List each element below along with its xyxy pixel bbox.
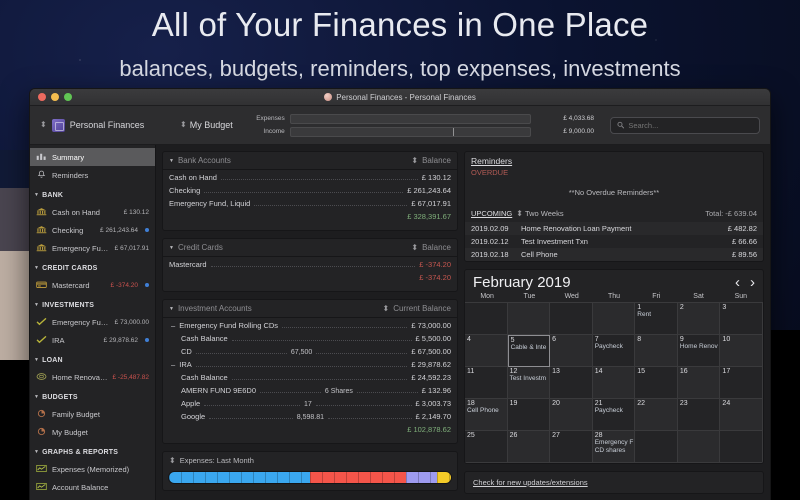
budget-bar-row: Expenses £ 4,033.68 <box>243 114 594 124</box>
sidebar-group-loan[interactable]: ▼LOAN <box>30 352 155 368</box>
table-row[interactable]: Emergency Fund, Liquid£ 67,017.91 <box>169 199 451 212</box>
table-row[interactable]: Cash on Hand£ 130.12 <box>169 173 451 186</box>
calendar-day-number: 1 <box>637 304 675 311</box>
sidebar-item-amount: £ 29,878.62 <box>104 337 138 344</box>
sidebar-item-my-budget[interactable]: My Budget <box>30 423 155 441</box>
sidebar-item-ira[interactable]: IRA£ 29,878.62 <box>30 331 155 349</box>
row-leader <box>196 366 408 367</box>
disclosure-triangle-icon[interactable]: ▼ <box>34 265 39 271</box>
sidebar-item-label: My Budget <box>52 428 149 437</box>
calendar-weekday: Sun <box>720 293 762 300</box>
calendar-day-number: 16 <box>680 368 718 375</box>
reminder-row[interactable]: 2019.02.12Test Investment Txn£ 66.66 <box>465 235 763 248</box>
calendar-day-cell[interactable]: 8 <box>635 335 678 367</box>
sidebar-group-label: BUDGETS <box>42 394 78 401</box>
disclosure-triangle-icon[interactable]: ▼ <box>34 192 39 198</box>
sidebar-group-label: INVESTMENTS <box>42 302 94 309</box>
calendar-day-cell[interactable]: 16 <box>678 367 721 399</box>
row-leader <box>221 179 418 180</box>
disclosure-triangle-icon[interactable]: ▼ <box>34 302 39 308</box>
sidebar-item-label: Expenses (Memorized) <box>52 465 149 474</box>
reminders-total-label: Total: <box>705 209 723 218</box>
calendar-event[interactable]: Emergency F <box>595 439 633 447</box>
reminders-range-value: Two Weeks <box>525 209 564 218</box>
expense-segment[interactable] <box>437 472 451 483</box>
calendar-day-number: 18 <box>467 400 505 407</box>
disclosure-triangle-icon[interactable]: ▼ <box>169 245 174 251</box>
calendar-day-number: 23 <box>680 400 718 407</box>
bank-accounts-column: Balance <box>422 156 451 165</box>
sidebar-item-mastercard[interactable]: Mastercard£ -374.20 <box>30 276 155 294</box>
row-leader <box>204 192 403 193</box>
row-value: £ 132.96 <box>422 386 451 395</box>
credit-cards-rows: Mastercard£ -374.20£ -374.20 <box>163 257 457 291</box>
sidebar-item-label: Reminders <box>52 171 149 180</box>
sidebar-group-label: LOAN <box>42 357 63 364</box>
sidebar-item-asset-allocation[interactable]: Asset Allocation <box>30 496 155 500</box>
file-selector[interactable]: ⬍ Personal Finances <box>40 119 170 132</box>
window-title: Personal Finances - Personal Finances <box>30 93 770 102</box>
investment-accounts-column: Current Balance <box>393 304 451 313</box>
sidebar-item-checking[interactable]: Checking£ 261,243.64 <box>30 221 155 239</box>
calendar-day-cell[interactable]: 15 <box>635 367 678 399</box>
calendar-event[interactable]: Paycheck <box>595 343 633 351</box>
reminder-row[interactable]: 2019.02.18Cell Phone£ 89.56 <box>465 248 763 261</box>
table-row[interactable]: Cash Balance£ 5,500.00 <box>169 334 451 347</box>
reminders-upcoming-label: UPCOMING <box>471 209 512 218</box>
file-name-label: Personal Finances <box>70 120 145 130</box>
expenses-breakdown-bar[interactable] <box>168 471 452 484</box>
table-row[interactable]: – Emergency Fund Rolling CDs£ 73,000.00 <box>169 321 451 334</box>
sidebar-item-amount: £ 130.12 <box>124 209 149 216</box>
expense-segment[interactable] <box>310 472 406 483</box>
calendar-day-cell[interactable]: 17 <box>720 367 763 399</box>
graph-icon <box>36 482 47 493</box>
bank-accounts-header[interactable]: ▼ Bank Accounts ⬍ Balance <box>163 152 457 170</box>
bar-label: Expenses <box>243 115 285 122</box>
calendar-day-number: 19 <box>510 400 548 407</box>
credit-cards-panel: ▼ Credit Cards ⬍ Balance Mastercard£ -37… <box>162 238 458 292</box>
row-value: £ 3,003.73 <box>416 399 451 408</box>
row-value: £ 5,500.00 <box>416 334 451 343</box>
reminder-date: 2019.02.12 <box>471 237 521 246</box>
reminder-title: Cell Phone <box>521 250 732 259</box>
row-label: Google <box>169 412 205 421</box>
sidebar-groups: ▼BANKCash on Hand£ 130.12Checking£ 261,2… <box>30 187 155 500</box>
sidebar-item-amount: £ 261,243.64 <box>100 227 138 234</box>
bar-label: Income <box>243 128 285 135</box>
calendar-weekday: Fri <box>635 293 677 300</box>
calendar-day-cell[interactable]: 3 <box>720 303 763 335</box>
disclosure-triangle-icon[interactable]: ▼ <box>34 449 39 455</box>
summary-icon <box>36 152 47 163</box>
calendar-day-number: 15 <box>637 368 675 375</box>
search-input[interactable] <box>628 121 753 130</box>
sidebar-group-label: GRAPHS & REPORTS <box>42 449 118 456</box>
calendar-day-cell[interactable]: 10 <box>720 335 763 367</box>
disclosure-triangle-icon[interactable]: ▼ <box>169 306 174 312</box>
calendar-day-number: 7 <box>595 336 633 343</box>
row-value: £ 73,000.00 <box>411 321 451 330</box>
reminder-title: Test Investment Txn <box>521 237 732 246</box>
calendar-day-number: 12 <box>510 368 548 375</box>
reminders-panel: Reminders OVERDUE **No Overdue Reminders… <box>464 151 764 262</box>
disclosure-triangle-icon[interactable]: ▼ <box>34 394 39 400</box>
expense-segment[interactable] <box>169 472 310 483</box>
window-titlebar: Personal Finances - Personal Finances <box>30 89 770 106</box>
row-leader <box>254 205 407 206</box>
expenses-title: Expenses: Last Month <box>180 456 254 465</box>
document-icon <box>52 119 65 132</box>
reminders-range-selector[interactable]: ⬍ Two Weeks <box>516 209 563 218</box>
investment-accounts-rows: – Emergency Fund Rolling CDs£ 73,000.00C… <box>163 318 457 443</box>
row-leader <box>211 266 416 267</box>
calendar-day-number: 9 <box>680 336 718 343</box>
right-column: Reminders OVERDUE **No Overdue Reminders… <box>464 151 764 494</box>
calendar-day-number: 24 <box>722 400 760 407</box>
row-quantity: 6 Shares <box>325 388 353 395</box>
check-updates-link[interactable]: Check for new updates/extensions <box>473 478 588 487</box>
status-dot <box>145 228 149 232</box>
row-value: £ 130.12 <box>422 173 451 182</box>
table-row[interactable]: Cash Balance£ 24,592.23 <box>169 373 451 386</box>
panel-total: £ -374.20 <box>169 273 451 286</box>
row-label: Apple <box>169 399 200 408</box>
row-leader <box>196 353 287 354</box>
reminder-title: Home Renovation Loan Payment <box>521 224 728 233</box>
calendar-day-cell[interactable]: 19 <box>508 399 551 431</box>
stepper-icon: ⬍ <box>40 121 47 129</box>
calendar-day-cell[interactable] <box>550 303 593 335</box>
expenses-bar-track <box>290 114 531 124</box>
reminders-total: Total: -£ 639.04 <box>705 209 757 218</box>
row-leader <box>232 379 408 380</box>
sidebar-item-amount: £ 73,000.00 <box>115 319 149 326</box>
pie-icon <box>36 409 47 420</box>
table-row[interactable]: Mastercard£ -374.20 <box>169 260 451 273</box>
app-icon <box>324 93 332 101</box>
calendar-day-cell[interactable]: 4 <box>465 335 508 367</box>
row-value: £ 67,017.91 <box>411 199 451 208</box>
income-bar-marker <box>453 128 454 136</box>
row-group-marker: – <box>169 321 177 330</box>
calendar-day-number: 25 <box>467 432 505 439</box>
calendar-day-cell[interactable] <box>720 431 763 463</box>
bell-icon <box>36 170 47 181</box>
sidebar-group-budgets[interactable]: ▼BUDGETS <box>30 389 155 405</box>
main-content: ▼ Bank Accounts ⬍ Balance Cash on Hand£ … <box>156 145 770 500</box>
row-label: Cash on Hand <box>169 173 217 182</box>
sidebar-item-label: Mastercard <box>52 281 106 290</box>
calendar-day-cell[interactable]: 14 <box>593 367 636 399</box>
bank-icon <box>36 207 47 218</box>
calendar-day-cell[interactable]: 23 <box>678 399 721 431</box>
status-dot <box>145 283 149 287</box>
sidebar-item-label: Cash on Hand <box>52 208 119 217</box>
calendar-day-number: 4 <box>467 336 505 343</box>
row-label: Emergency Fund Rolling CDs <box>177 321 278 330</box>
calendar-day-cell[interactable] <box>593 303 636 335</box>
reminder-amount: £ 66.66 <box>732 237 757 246</box>
calendar-day-number: 21 <box>595 400 633 407</box>
calendar-header: February 2019 ‹ › <box>465 270 763 293</box>
table-row[interactable]: Checking£ 261,243.64 <box>169 186 451 199</box>
table-row[interactable]: CD67,500£ 67,500.00 <box>169 347 451 360</box>
promo-headline: All of Your Finances in One Place <box>0 6 800 44</box>
expense-segment[interactable] <box>406 472 437 483</box>
calendar-title: February 2019 <box>473 274 571 291</box>
row-leader <box>209 418 293 419</box>
expenses-panel: ⬍ Expenses: Last Month <box>162 451 458 491</box>
sidebar-group-bank[interactable]: ▼BANK <box>30 187 155 203</box>
reminder-date: 2019.02.09 <box>471 224 521 233</box>
row-quantity: 67,500 <box>291 349 312 356</box>
calendar-day-cell[interactable] <box>465 303 508 335</box>
row-value: £ 67,500.00 <box>411 347 451 356</box>
sidebar-item-amount: £ 67,017.91 <box>115 245 149 252</box>
status-dot <box>145 338 149 342</box>
panel-total-value: £ -374.20 <box>419 273 451 282</box>
updates-panel: Check for new updates/extensions <box>464 471 764 494</box>
sidebar-item-label: Emergency Fun... <box>52 244 110 253</box>
row-label: IRA <box>177 360 192 369</box>
row-group-marker: – <box>169 360 177 369</box>
calendar-next-button[interactable]: › <box>750 274 755 291</box>
row-leader <box>316 405 412 406</box>
calendar-day-cell[interactable]: 26 <box>508 431 551 463</box>
calendar-panel: February 2019 ‹ › MonTueWedThuFriSatSun … <box>464 269 764 464</box>
calendar-day-cell[interactable] <box>678 431 721 463</box>
row-leader <box>316 353 407 354</box>
sidebar: SummaryReminders ▼BANKCash on Hand£ 130.… <box>30 145 156 500</box>
expenses-header[interactable]: ⬍ Expenses: Last Month <box>163 452 457 469</box>
updates-row: Check for new updates/extensions <box>465 472 763 493</box>
investment-accounts-panel: ▼ Investment Accounts ⬍ Current Balance … <box>162 299 458 444</box>
sidebar-item-emergency-fun-[interactable]: Emergency Fun...£ 67,017.91 <box>30 239 155 257</box>
calendar-event[interactable]: Paycheck <box>595 407 633 415</box>
calendar-day-cell[interactable]: 20 <box>550 399 593 431</box>
income-bar-value: £ 9,000.00 <box>536 128 594 135</box>
check-icon <box>36 335 47 346</box>
sidebar-item-amount: £ -374.20 <box>111 282 138 289</box>
calendar-day-cell[interactable]: 28Emergency FCD shares <box>593 431 636 463</box>
calendar-day-cell[interactable]: 25 <box>465 431 508 463</box>
sidebar-item-label: Family Budget <box>52 410 149 419</box>
calendar-weekday-row: MonTueWedThuFriSatSun <box>465 293 763 302</box>
calendar-day-cell[interactable]: 18Cell Phone <box>465 399 508 431</box>
table-row[interactable]: AMERN FUND 9E6D06 Shares£ 132.96 <box>169 386 451 399</box>
table-row[interactable]: – IRA£ 29,878.62 <box>169 360 451 373</box>
calendar-day-number: 6 <box>552 336 590 343</box>
calendar-day-cell[interactable]: 21Paycheck <box>593 399 636 431</box>
left-column: ▼ Bank Accounts ⬍ Balance Cash on Hand£ … <box>162 151 458 494</box>
calendar-day-number: 22 <box>637 400 675 407</box>
stepper-icon: ⬍ <box>411 244 418 252</box>
calendar-weekday: Wed <box>551 293 593 300</box>
calendar-event[interactable]: Cell Phone <box>467 407 505 415</box>
sidebar-item-summary[interactable]: Summary <box>30 148 155 166</box>
investment-accounts-title: Investment Accounts <box>178 304 252 313</box>
expenses-bar-value: £ 4,033.68 <box>536 115 594 122</box>
row-quantity: 17 <box>304 401 312 408</box>
credit-cards-title: Credit Cards <box>178 243 223 252</box>
calendar-day-cell[interactable]: 11 <box>465 367 508 399</box>
bank-icon <box>36 225 47 236</box>
card-icon <box>36 280 47 291</box>
search-box[interactable] <box>610 117 760 134</box>
row-value: £ 261,243.64 <box>407 186 451 195</box>
sidebar-item-emergency-fun-[interactable]: Emergency Fun...£ 73,000.00 <box>30 313 155 331</box>
row-label: Cash Balance <box>169 334 228 343</box>
calendar-day-number: 5 <box>511 337 548 344</box>
sidebar-item-reminders[interactable]: Reminders <box>30 166 155 184</box>
row-label: CD <box>169 347 192 356</box>
sidebar-item-cash-on-hand[interactable]: Cash on Hand£ 130.12 <box>30 203 155 221</box>
row-leader <box>260 392 321 393</box>
reminders-overdue-label: OVERDUE <box>465 168 763 180</box>
calendar-event[interactable]: CD shares <box>595 447 633 455</box>
calendar-day-cell[interactable]: 7Paycheck <box>593 335 636 367</box>
investment-accounts-header[interactable]: ▼ Investment Accounts ⬍ Current Balance <box>163 300 457 318</box>
stepper-icon: ⬍ <box>382 305 389 313</box>
calendar-weekday: Sat <box>677 293 719 300</box>
reminders-upcoming-header: UPCOMING ⬍ Two Weeks Total: -£ 639.04 <box>465 207 763 222</box>
reminders-overdue-empty: **No Overdue Reminders** <box>465 180 763 207</box>
sidebar-group-graphs-reports[interactable]: ▼GRAPHS & REPORTS <box>30 444 155 460</box>
sidebar-item-family-budget[interactable]: Family Budget <box>30 405 155 423</box>
calendar-event[interactable]: Rent <box>637 311 675 319</box>
reminder-date: 2019.02.18 <box>471 250 521 259</box>
calendar-day-cell[interactable]: 12Test Investm <box>508 367 551 399</box>
row-quantity: 8,598.81 <box>297 414 324 421</box>
bank-icon <box>36 243 47 254</box>
credit-cards-header[interactable]: ▼ Credit Cards ⬍ Balance <box>163 239 457 257</box>
row-leader <box>328 418 412 419</box>
loan-icon <box>36 372 47 383</box>
budget-name-label: My Budget <box>190 120 233 130</box>
search-icon <box>617 121 624 129</box>
calendar-day-cell[interactable]: 9Home Renov <box>678 335 721 367</box>
sidebar-group-investments[interactable]: ▼INVESTMENTS <box>30 297 155 313</box>
panel-total-value: £ 102,878.62 <box>407 425 451 434</box>
check-icon <box>36 317 47 328</box>
budget-bars: Expenses £ 4,033.68 Income £ 9,000.00 <box>243 114 600 137</box>
sidebar-top-items: SummaryReminders <box>30 148 155 184</box>
window-body: SummaryReminders ▼BANKCash on Hand£ 130.… <box>30 145 770 500</box>
credit-cards-column: Balance <box>422 243 451 252</box>
sidebar-item-home-renovati-[interactable]: Home Renovati...£ -25,487.82 <box>30 368 155 386</box>
calendar-event[interactable]: Cable & Inte <box>511 344 548 352</box>
calendar-day-number: 8 <box>637 336 675 343</box>
stepper-icon: ⬍ <box>411 157 418 165</box>
calendar-day-number: 17 <box>722 368 760 375</box>
table-row[interactable]: Google8,598.81£ 2,149.70 <box>169 412 451 425</box>
sidebar-group-label: CREDIT CARDS <box>42 265 97 272</box>
row-leader <box>357 392 418 393</box>
sidebar-item-label: Emergency Fun... <box>52 318 110 327</box>
calendar-day-number: 10 <box>722 336 760 343</box>
calendar-day-cell[interactable] <box>508 303 551 335</box>
promo-subheadline: balances, budgets, reminders, top expens… <box>0 56 800 82</box>
calendar-weekday: Thu <box>593 293 635 300</box>
sidebar-item-label: Home Renovati... <box>52 373 107 382</box>
budget-bar-row: Income £ 9,000.00 <box>243 127 594 137</box>
calendar-day-number: 26 <box>510 432 548 439</box>
sidebar-item-label: Checking <box>52 226 95 235</box>
stepper-icon: ⬍ <box>169 457 176 465</box>
calendar-day-number: 28 <box>595 432 633 439</box>
sidebar-group-credit-cards[interactable]: ▼CREDIT CARDS <box>30 260 155 276</box>
calendar-day-number: 13 <box>552 368 590 375</box>
sidebar-item-label: Account Balance <box>52 483 149 492</box>
calendar-event[interactable]: Home Renov <box>680 343 718 351</box>
row-label: AMERN FUND 9E6D0 <box>169 386 256 395</box>
calendar-grid: 1Rent2345Cable & Inte67Paycheck89Home Re… <box>465 302 763 463</box>
disclosure-triangle-icon[interactable]: ▼ <box>169 158 174 164</box>
calendar-day-number: 20 <box>552 400 590 407</box>
stepper-icon: ⬍ <box>516 210 523 218</box>
panel-total: £ 102,878.62 <box>169 425 451 438</box>
row-value: £ -374.20 <box>419 260 451 269</box>
graph-icon <box>36 464 47 475</box>
calendar-day-cell[interactable] <box>635 431 678 463</box>
reminder-row[interactable]: 2019.02.09Home Renovation Loan Payment£ … <box>465 222 763 235</box>
panel-total: £ 328,391.67 <box>169 212 451 225</box>
row-label: Checking <box>169 186 200 195</box>
calendar-day-cell[interactable]: 27 <box>550 431 593 463</box>
row-label: Cash Balance <box>169 373 228 382</box>
row-label: Emergency Fund, Liquid <box>169 199 250 208</box>
calendar-day-cell[interactable]: 22 <box>635 399 678 431</box>
reminder-amount: £ 89.56 <box>732 250 757 259</box>
row-value: £ 2,149.70 <box>416 412 451 421</box>
calendar-day-cell[interactable]: 2 <box>678 303 721 335</box>
window-title-text: Personal Finances - Personal Finances <box>336 93 476 102</box>
sidebar-item-amount: £ -25,487.82 <box>112 374 149 381</box>
disclosure-triangle-icon[interactable]: ▼ <box>34 357 39 363</box>
sidebar-group-label: BANK <box>42 192 63 199</box>
budget-selector[interactable]: ⬍ My Budget <box>180 120 233 130</box>
calendar-event[interactable]: Test Investm <box>510 375 548 383</box>
calendar-weekday: Mon <box>466 293 508 300</box>
row-label: Mastercard <box>169 260 207 269</box>
calendar-day-cell[interactable]: 13 <box>550 367 593 399</box>
table-row[interactable]: Apple17£ 3,003.73 <box>169 399 451 412</box>
bank-accounts-rows: Cash on Hand£ 130.12Checking£ 261,243.64… <box>163 170 457 230</box>
reminders-title: Reminders <box>465 152 763 168</box>
calendar-day-cell[interactable]: 6 <box>550 335 593 367</box>
row-leader <box>204 405 300 406</box>
sidebar-item-account-balance[interactable]: Account Balance <box>30 478 155 496</box>
calendar-day-cell[interactable]: 1Rent <box>635 303 678 335</box>
panel-total-value: £ 328,391.67 <box>407 212 451 221</box>
app-window: Personal Finances - Personal Finances ⬍ … <box>29 88 771 500</box>
income-bar-track <box>290 127 531 137</box>
calendar-day-cell[interactable]: 24 <box>720 399 763 431</box>
calendar-prev-button[interactable]: ‹ <box>735 274 740 291</box>
bank-accounts-panel: ▼ Bank Accounts ⬍ Balance Cash on Hand£ … <box>162 151 458 231</box>
pie-icon <box>36 427 47 438</box>
reminders-total-value: -£ 639.04 <box>725 209 757 218</box>
calendar-day-cell[interactable]: 5Cable & Inte <box>508 335 551 367</box>
sidebar-item-expenses-memorized-[interactable]: Expenses (Memorized) <box>30 460 155 478</box>
reminder-amount: £ 482.82 <box>728 224 757 233</box>
toolbar: ⬍ Personal Finances ⬍ My Budget Expenses… <box>30 106 770 145</box>
row-value: £ 24,592.23 <box>411 373 451 382</box>
calendar-day-number: 11 <box>467 368 505 375</box>
row-leader <box>282 327 407 328</box>
row-leader <box>232 340 412 341</box>
